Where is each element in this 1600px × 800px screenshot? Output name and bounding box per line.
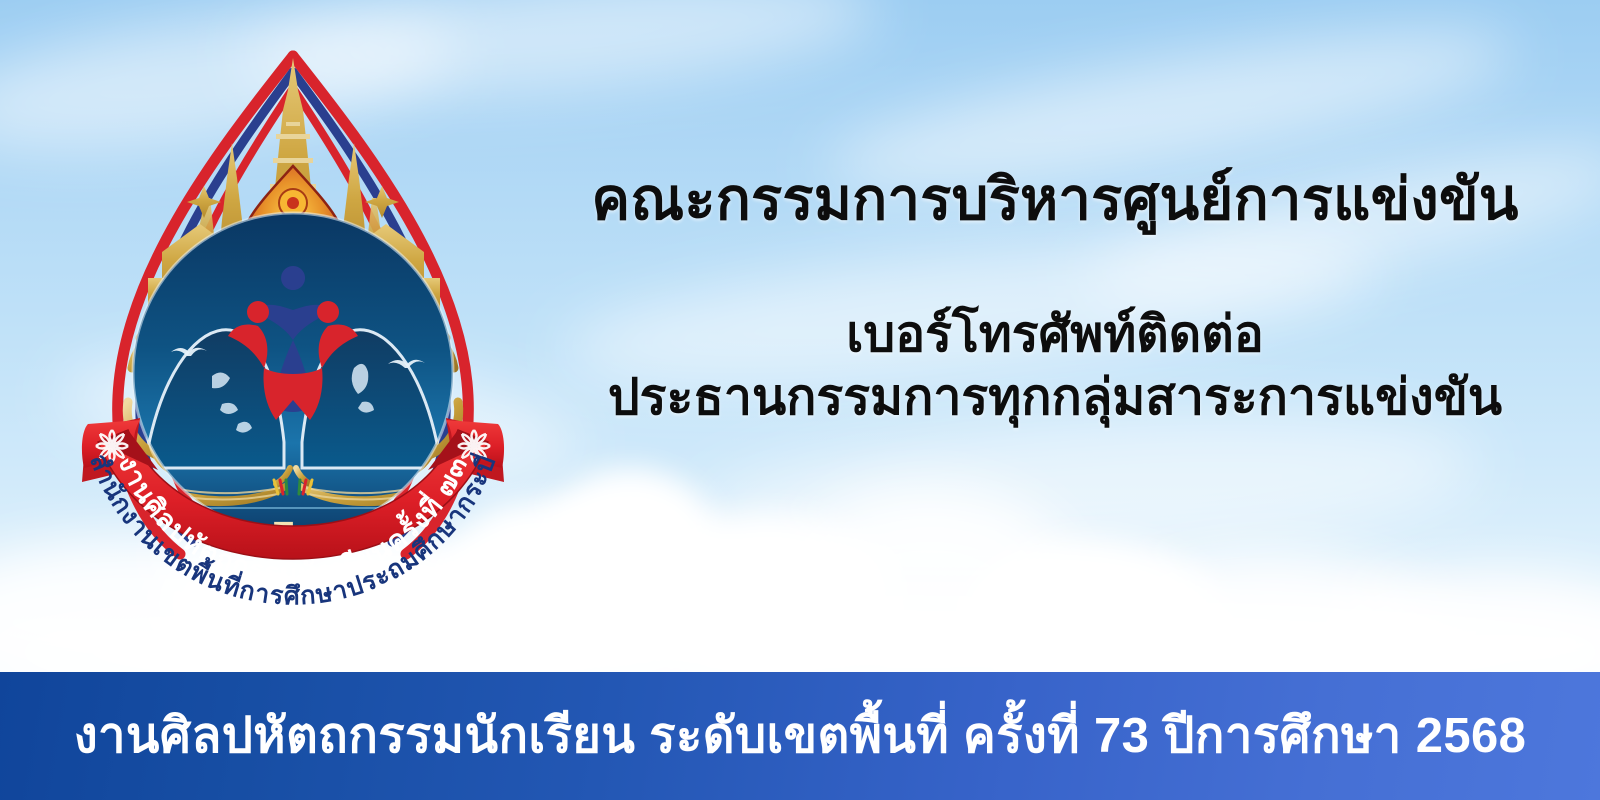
emblem-artwork: ๗๓ bbox=[62, 38, 524, 600]
bottom-banner: งานศิลปหัตถกรรมนักเรียน ระดับเขตพื้นที่ … bbox=[0, 672, 1600, 800]
poster-canvas: ๗๓ bbox=[0, 0, 1600, 800]
page-title: คณะกรรมการบริหารศูนย์การแข่งขัน bbox=[540, 168, 1570, 233]
main-text-block: คณะกรรมการบริหารศูนย์การแข่งขัน เบอร์โทร… bbox=[540, 168, 1570, 429]
festival-emblem: ๗๓ bbox=[62, 38, 524, 600]
subtitle-line-2: ประธานกรรมการทุกกลุ่มสาระการแข่งขัน bbox=[540, 366, 1570, 429]
wave-pattern bbox=[212, 622, 376, 660]
subtitle-line-1: เบอร์โทรศัพท์ติดต่อ bbox=[540, 303, 1570, 366]
bottom-banner-text: งานศิลปหัตถกรรมนักเรียน ระดับเขตพื้นที่ … bbox=[74, 712, 1527, 761]
title-spacer bbox=[540, 233, 1570, 303]
